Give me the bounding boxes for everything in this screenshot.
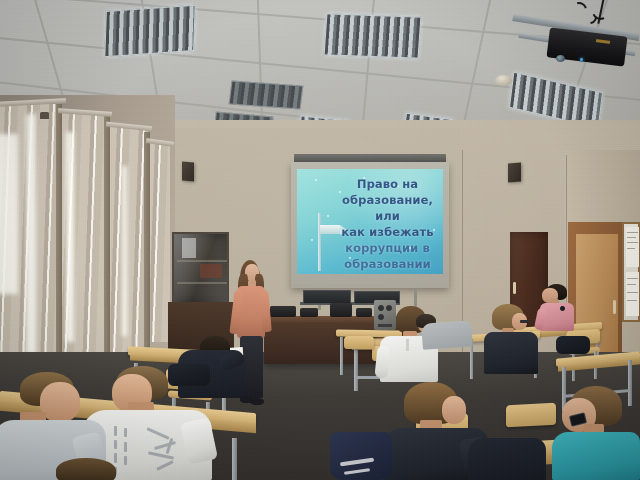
- slide-line: коррупции в: [335, 241, 440, 257]
- wall-speaker-icon: [182, 161, 194, 181]
- slide-title: Право на образование, или как избежать к…: [335, 177, 440, 272]
- bag: [556, 336, 590, 354]
- slide-line: образовании: [335, 257, 440, 273]
- smoke-detector-icon: [495, 75, 512, 86]
- front-desk-equipment: [356, 308, 372, 317]
- wall-monitor: [303, 290, 351, 304]
- wall-notice-board: [622, 222, 640, 322]
- backpack-icon: [330, 432, 392, 480]
- classroom-photo: Право на образование, или как избежать к…: [0, 0, 640, 480]
- front-desk-equipment: [300, 308, 318, 317]
- slide-line: Право на: [335, 177, 440, 193]
- ceiling-light-panel: [229, 81, 304, 110]
- student-corner-partial: [56, 458, 126, 480]
- student-back-row-navy: [468, 428, 548, 480]
- presentation-slide: Право на образование, или как избежать к…: [297, 169, 443, 274]
- front-desk-equipment: [330, 303, 352, 317]
- student-right-teal: [548, 386, 640, 480]
- wall-speaker-icon: [508, 163, 521, 183]
- student-mid-gray-hoodie: [412, 310, 474, 350]
- ceiling-light-panel: [104, 5, 195, 58]
- wall-hook: [40, 112, 49, 119]
- projection-screen: Право на образование, или как избежать к…: [291, 162, 449, 288]
- window-bay: [108, 126, 148, 354]
- vertical-blinds[interactable]: [108, 126, 148, 354]
- slide-line: как избежать: [335, 225, 440, 241]
- slide-line: образование, или: [335, 193, 440, 225]
- window-bay: [0, 104, 62, 372]
- student-chair[interactable]: [344, 336, 374, 349]
- student-mid-navy-glasses: [482, 304, 544, 374]
- bag: [168, 364, 210, 386]
- window-bay: [60, 112, 110, 362]
- glass-front-display-cabinet[interactable]: [172, 232, 229, 304]
- ceiling-light-panel: [324, 13, 422, 58]
